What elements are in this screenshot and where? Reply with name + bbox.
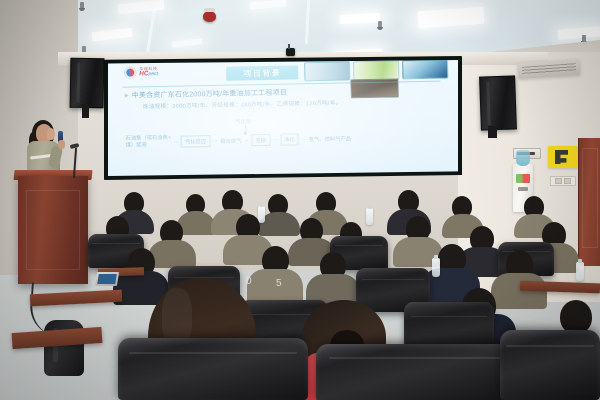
sprinkler-head <box>80 2 84 10</box>
flow-step-2: 变换 <box>251 134 270 146</box>
facility-photo-thumb <box>402 60 448 79</box>
outlet-socket <box>555 178 562 184</box>
flow-arrow-icon: → <box>272 137 278 143</box>
banner-text: 项目背景 <box>243 67 281 79</box>
seat-number: 5 <box>276 278 285 289</box>
chair-back <box>240 300 328 354</box>
dispenser-label <box>516 174 530 183</box>
chair-back <box>168 266 240 308</box>
slide-banner-title: 项目背景 <box>226 65 298 80</box>
wooden-podium <box>18 176 88 284</box>
room-door[interactable] <box>578 138 600 266</box>
wall-speaker-right <box>479 75 517 130</box>
flow-step-1: 粗合成气 <box>220 137 241 145</box>
process-diagram-thumb <box>353 60 399 80</box>
sprinkler-head <box>378 21 382 29</box>
flow-step-3: 净化 <box>280 133 299 145</box>
red-jacket-person-bun <box>330 330 364 360</box>
projection-screen: 华城科技 HCpect 项目背景 中美合资广东石化2000万吨/年重油加工工程项… <box>108 60 458 176</box>
exit-glyph-icon <box>555 150 568 164</box>
flow-arrow-icon: → <box>173 139 179 145</box>
wall-outlet <box>550 176 576 186</box>
wall-speaker-left <box>70 58 105 109</box>
audience-head <box>196 286 228 320</box>
ceiling-light <box>172 38 203 48</box>
ceiling-light <box>558 26 600 40</box>
flow-output: 氢气、燃料气产品 <box>309 134 352 143</box>
presentation-slide: 华城科技 HCpect 项目背景 中美合资广东石化2000万吨/年重油加工工程项… <box>108 60 458 176</box>
ceiling-light <box>92 28 133 42</box>
slide-logo: 华城科技 HCpect <box>124 66 158 79</box>
foreground-chair <box>316 344 526 400</box>
dispenser-taps[interactable] <box>518 187 528 191</box>
logo-brand-en: HCpect <box>139 71 158 78</box>
flow-down-arrow-icon <box>245 125 246 133</box>
ceiling-light <box>118 0 165 14</box>
slide-bullet-row: 中美合资广东石化2000万吨/年重油加工工程项目 <box>125 88 287 101</box>
ceiling-beam <box>305 0 310 44</box>
mic-cable <box>28 282 78 337</box>
ceiling-light <box>340 13 380 24</box>
water-dispenser <box>513 164 533 212</box>
foreground-red-jacket <box>300 352 420 400</box>
hc-circular-logo-icon <box>124 66 136 78</box>
audience-shoulders <box>306 274 360 308</box>
process-flow-diagram: 石油焦（或石油焦+ 煤）浆液 → 气化反应 → 粗合成气 → 变换 → 净化 →… <box>125 131 351 150</box>
audience-shoulders <box>113 271 169 305</box>
emergency-exit-sign <box>548 146 578 168</box>
audience-head <box>560 300 592 334</box>
conference-room-photo: 华城科技 HCpect 项目背景 中美合资广东石化2000万吨/年重油加工工程项… <box>0 0 600 400</box>
audience-shoulders <box>247 269 303 303</box>
bullet-arrow-icon <box>125 94 129 98</box>
slide-subline: 炼油规模：2000万吨/年、芳烃规模：240万吨/年、乙烯规模：120万吨/年。 <box>143 99 342 111</box>
audience-shoulders <box>178 312 246 352</box>
red-jacket-person-hair <box>302 300 386 374</box>
dispenser-bottle <box>516 150 530 166</box>
flow-arrow-icon: → <box>212 138 218 144</box>
fire-alarm-dome <box>203 11 216 22</box>
podium-front-panel <box>26 190 80 270</box>
speaker-mount-left <box>82 104 89 118</box>
flow-top-label: 气化剂 <box>235 117 251 125</box>
ceiling-camera <box>286 48 295 56</box>
presenter-face <box>47 128 55 140</box>
ceiling-light <box>417 7 484 29</box>
chair-back <box>356 268 430 312</box>
plant-photo-thumb <box>304 61 350 81</box>
outlet-socket <box>564 178 571 184</box>
foreground-person-hair <box>148 278 256 400</box>
flow-arrow-icon: → <box>243 137 249 143</box>
flow-feed-label: 石油焦（或石油焦+ 煤）浆液 <box>125 135 171 150</box>
foreground-chair <box>500 330 600 400</box>
audience-shoulders <box>442 314 516 360</box>
speaker-mount-right <box>488 126 497 138</box>
chair-back <box>404 302 494 356</box>
seat-number: 0 <box>246 276 255 287</box>
slide-bullet-text: 中美合资广东石化2000万吨/年重油加工工程项目 <box>132 88 287 101</box>
laptop[interactable] <box>95 272 119 286</box>
flow-arrow-icon: → <box>301 136 307 142</box>
flow-step-0: 气化反应 <box>181 135 210 148</box>
foreground-chair <box>118 338 308 400</box>
presenter-hand <box>58 140 65 149</box>
ceiling-light <box>250 0 286 10</box>
